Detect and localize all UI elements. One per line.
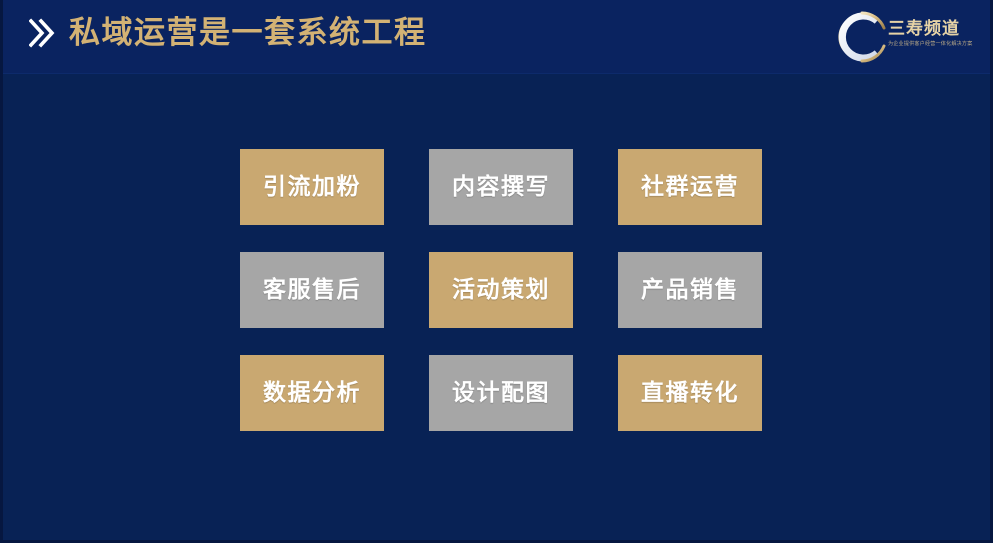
grid-cell-label: 直播转化	[641, 380, 739, 406]
grid-cell-label: 产品销售	[641, 277, 739, 303]
logo-tagline: 为企业提供客户经营一体化解决方案	[888, 40, 972, 48]
logo-text-group: 三寿频道 为企业提供客户经营一体化解决方案	[888, 19, 974, 48]
grid-cell-label: 引流加粉	[263, 174, 361, 200]
logo-name: 三寿频道	[888, 19, 974, 39]
grid-cell-label: 社群运营	[641, 174, 739, 200]
grid-cell[interactable]: 数据分析	[240, 355, 384, 431]
grid-cell-label: 内容撰写	[452, 174, 550, 200]
title-group: 私域运营是一套系统工程	[29, 13, 427, 53]
header-divider	[3, 73, 993, 74]
grid-cell[interactable]: 活动策划	[429, 252, 573, 328]
grid-cell[interactable]: 内容撰写	[429, 149, 573, 225]
grid-cell[interactable]: 引流加粉	[240, 149, 384, 225]
grid-cell-label: 客服售后	[263, 277, 361, 303]
grid-cell[interactable]: 设计配图	[429, 355, 573, 431]
slide-canvas: 私域运营是一套系统工程	[0, 0, 993, 543]
brand-logo: 三寿频道 为企业提供客户经营一体化解决方案	[832, 8, 972, 66]
grid-cell[interactable]: 社群运营	[618, 149, 762, 225]
grid-cell-label: 设计配图	[452, 380, 550, 406]
grid-cell-label: 活动策划	[452, 277, 550, 303]
grid-cell-label: 数据分析	[263, 380, 361, 406]
page-title: 私域运营是一套系统工程	[69, 13, 427, 53]
grid-cell[interactable]: 直播转化	[618, 355, 762, 431]
grid-cell[interactable]: 客服售后	[240, 252, 384, 328]
double-chevron-right-icon	[29, 17, 55, 49]
capability-grid: 引流加粉内容撰写社群运营客服售后活动策划产品销售数据分析设计配图直播转化	[240, 149, 762, 431]
grid-cell[interactable]: 产品销售	[618, 252, 762, 328]
concentric-arcs-logo-icon	[832, 9, 890, 65]
